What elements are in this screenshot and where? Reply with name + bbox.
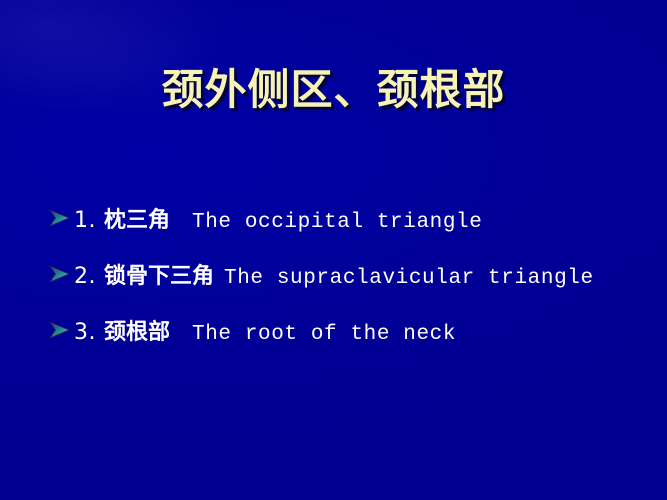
arrowhead-bullet-icon xyxy=(48,209,70,227)
list-item-text: 3. 颈根部 The root of the neck xyxy=(74,314,456,346)
list-item-index: 3. xyxy=(74,320,96,345)
bullet-list: 1. 枕三角 The occipital triangle 2. 锁骨下三角 xyxy=(48,190,653,358)
list-item-text: 2. 锁骨下三角 The supraclavicular triangle xyxy=(74,258,594,290)
list-item-cjk: 颈根部 xyxy=(104,314,170,346)
list-item-cjk: 枕三角 xyxy=(104,202,170,234)
list-item[interactable]: 3. 颈根部 The root of the neck xyxy=(48,302,653,358)
list-item-text: 1. 枕三角 The occipital triangle xyxy=(74,202,482,234)
list-item-index: 1. xyxy=(74,208,96,233)
list-item-cjk: 锁骨下三角 xyxy=(104,258,214,290)
slide-title: 颈外侧区、颈根部 xyxy=(0,64,667,116)
list-item[interactable]: 2. 锁骨下三角 The supraclavicular triangle xyxy=(48,246,653,302)
list-item[interactable]: 1. 枕三角 The occipital triangle xyxy=(48,190,653,246)
list-item-en: The supraclavicular triangle xyxy=(224,267,594,290)
list-item-en: The occipital triangle xyxy=(192,211,482,234)
arrowhead-bullet-icon xyxy=(48,265,70,283)
list-item-index: 2. xyxy=(74,264,96,289)
presentation-slide: 颈外侧区、颈根部 1. 枕三角 The occipital triangle xyxy=(0,0,667,500)
arrowhead-bullet-icon xyxy=(48,321,70,339)
list-item-en: The root of the neck xyxy=(192,323,456,346)
